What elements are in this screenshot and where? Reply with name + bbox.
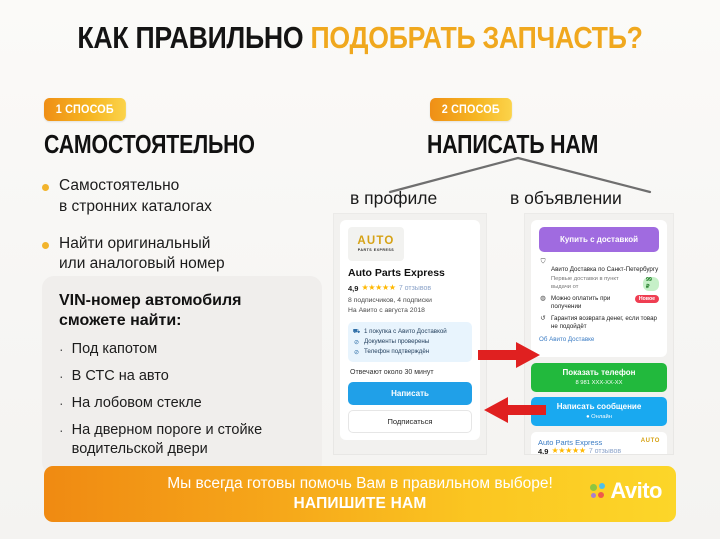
badge-way-1: 1 СПОСОБ [44,98,126,121]
return-icon: ↺ [539,315,547,323]
payment-row: ◍ Можно оплатить при получении Новое [539,295,659,311]
cta-banner-line2: НАПИШИТЕ НАМ [294,495,427,513]
list-item-label: Самостоятельно в стронних каталогах [59,176,212,218]
list-item: · В СТС на авто [59,367,305,386]
trust-chip: ⛟ 1 покупка с Авито Доставкой [353,328,467,335]
page-title: КАК ПРАВИЛЬНО ПОДОБРАТЬ ЗАПЧАСТЬ? [50,22,669,53]
buy-with-delivery-button[interactable]: Купить с доставкой [539,227,659,252]
page-title-black: КАК ПРАВИЛЬНО [77,20,310,55]
show-phone-label: Показать телефон [531,369,667,378]
followers-count: 8 подписчиков, 4 подписки [348,296,472,306]
list-item: Найти оригинальный или аналоговый номер [42,234,327,276]
list-item-label: На лобовом стекле [72,394,202,413]
list-item: · На дверном пороге и стойке водительско… [59,421,305,459]
seller-reviews-link[interactable]: 7 отзывов [589,448,621,454]
seller-card: Auto Parts Express AUTO 4,9 ★★★★★ 7 отзы… [531,432,667,454]
reviews-link[interactable]: 7 отзывов [399,285,431,292]
seller-logo: AUTO [641,438,660,444]
sub-label-profile: в профиле [350,188,437,209]
list-item-label: Под капотом [72,340,158,359]
list-item-label: На дверном пороге и стойке водительской … [72,421,262,459]
avito-dots-icon [590,483,607,500]
new-badge: Новое [635,295,659,303]
way-1-title: САМОСТОЯТЕЛЬНО [44,131,255,157]
list-item: · Под капотом [59,340,305,359]
write-button[interactable]: Написать [348,382,472,405]
poster-root: КАК ПРАВИЛЬНО ПОДОБРАТЬ ЗАПЧАСТЬ? 1 СПОС… [0,0,720,539]
box-icon: ⛉ [539,258,547,266]
bullet-dash-icon: · [59,421,64,439]
trust-chip-label: Телефон подтверждён [364,348,429,355]
shop-logo-sub: PARTS EXPRESS [358,249,394,253]
bullet-dash-icon: · [59,394,64,412]
list-item-label: В СТС на авто [72,367,169,386]
vin-info-card: VIN-номер автомобиля сможете найти: · По… [42,276,322,474]
contact-buttons: Показать телефон 8 981 XXX-XX-XX Написат… [531,363,667,426]
rating-row: 4,9 ★★★★★ 7 отзывов [348,284,472,293]
refund-row-label: Гарантия возврата денег, если товар не п… [551,315,657,331]
sub-label-advert: в объявлении [510,188,622,209]
profile-card: AUTO PARTS EXPRESS Auto Parts Express 4,… [340,220,480,440]
delivery-block: Купить с доставкой ⛉ Авито Доставка по С… [531,220,667,357]
list-item: · На лобовом стекле [59,394,305,413]
cta-banner: Мы всегда готовы помочь Вам в правильном… [44,466,676,522]
cta-banner-line1: Мы всегда готовы помочь Вам в правильном… [167,475,553,493]
check-circle-icon: ⊘ [353,339,360,346]
write-message-label: Написать сообщение [531,403,667,412]
bullet-dot-icon [42,184,49,191]
delivery-row: ⛉ Авито Доставка по Санкт-Петербургу Пер… [539,258,659,291]
delivery-row-sub-label: Первые доставки в пункт выдачи от [551,276,640,291]
trust-chip-label: Документы проверены [364,338,429,345]
wallet-icon: ◍ [539,295,547,303]
write-message-button[interactable]: Написать сообщение ● Онлайн [531,397,667,426]
shop-logo-main: AUTO [357,236,394,248]
page-title-yellow: ПОДОБРАТЬ ЗАПЧАСТЬ? [310,20,642,55]
trust-chip: ⊘ Документы проверены [353,338,467,345]
bullet-dash-icon: · [59,340,64,358]
arrow-to-message-button [476,341,542,369]
stars-icon: ★★★★★ [361,284,395,292]
trust-chip-list: ⛟ 1 покупка с Авито Доставкой ⊘ Документ… [348,322,472,362]
arrow-to-write-button [482,396,548,424]
list-item-label: Найти оригинальный или аналоговый номер [59,234,225,276]
about-delivery-link[interactable]: Об Авито Доставке [539,336,659,343]
price-pill: 99 ₽ [643,277,659,291]
payment-row-label: Можно оплатить при получении [551,295,631,311]
trust-chip-label: 1 покупка с Авито Доставкой [364,328,447,335]
way-1-bullet-list: Самостоятельно в стронних каталогах Найт… [42,176,327,291]
stars-icon: ★★★★★ [551,447,585,454]
shop-name: Auto Parts Express [348,268,472,280]
subscribe-button[interactable]: Подписаться [348,410,472,433]
delivery-row-sub: Первые доставки в пункт выдачи от 99 ₽ [551,276,659,291]
show-phone-button[interactable]: Показать телефон 8 981 XXX-XX-XX [531,363,667,392]
avito-wordmark: Avito [610,480,662,502]
member-since: На Авито с августа 2018 [348,306,472,316]
profile-screenshot: AUTO PARTS EXPRESS Auto Parts Express 4,… [334,214,486,454]
avito-logo: Avito [590,480,662,502]
online-status: ● Онлайн [531,414,667,420]
vin-card-title: VIN-номер автомобиля сможете найти: [59,291,305,331]
check-circle-icon: ⊘ [353,349,360,356]
seller-rating-value: 4,9 [538,447,548,454]
badge-way-2: 2 СПОСОБ [430,98,512,121]
bullet-dash-icon: · [59,367,64,385]
list-item: Самостоятельно в стронних каталогах [42,176,327,218]
delivery-icon: ⛟ [353,329,360,336]
delivery-row-label: Авито Доставка по Санкт-Петербургу [551,266,658,273]
trust-chip: ⊘ Телефон подтверждён [353,348,467,355]
refund-row: ↺ Гарантия возврата денег, если товар не… [539,315,659,331]
bullet-dot-icon [42,242,49,249]
rating-value: 4,9 [348,284,358,293]
seller-rating-row: 4,9 ★★★★★ 7 отзывов [538,447,660,454]
shop-logo: AUTO PARTS EXPRESS [348,227,404,261]
show-phone-number: 8 981 XXX-XX-XX [531,380,667,386]
reply-time: Отвечают около 30 минут [350,369,470,376]
